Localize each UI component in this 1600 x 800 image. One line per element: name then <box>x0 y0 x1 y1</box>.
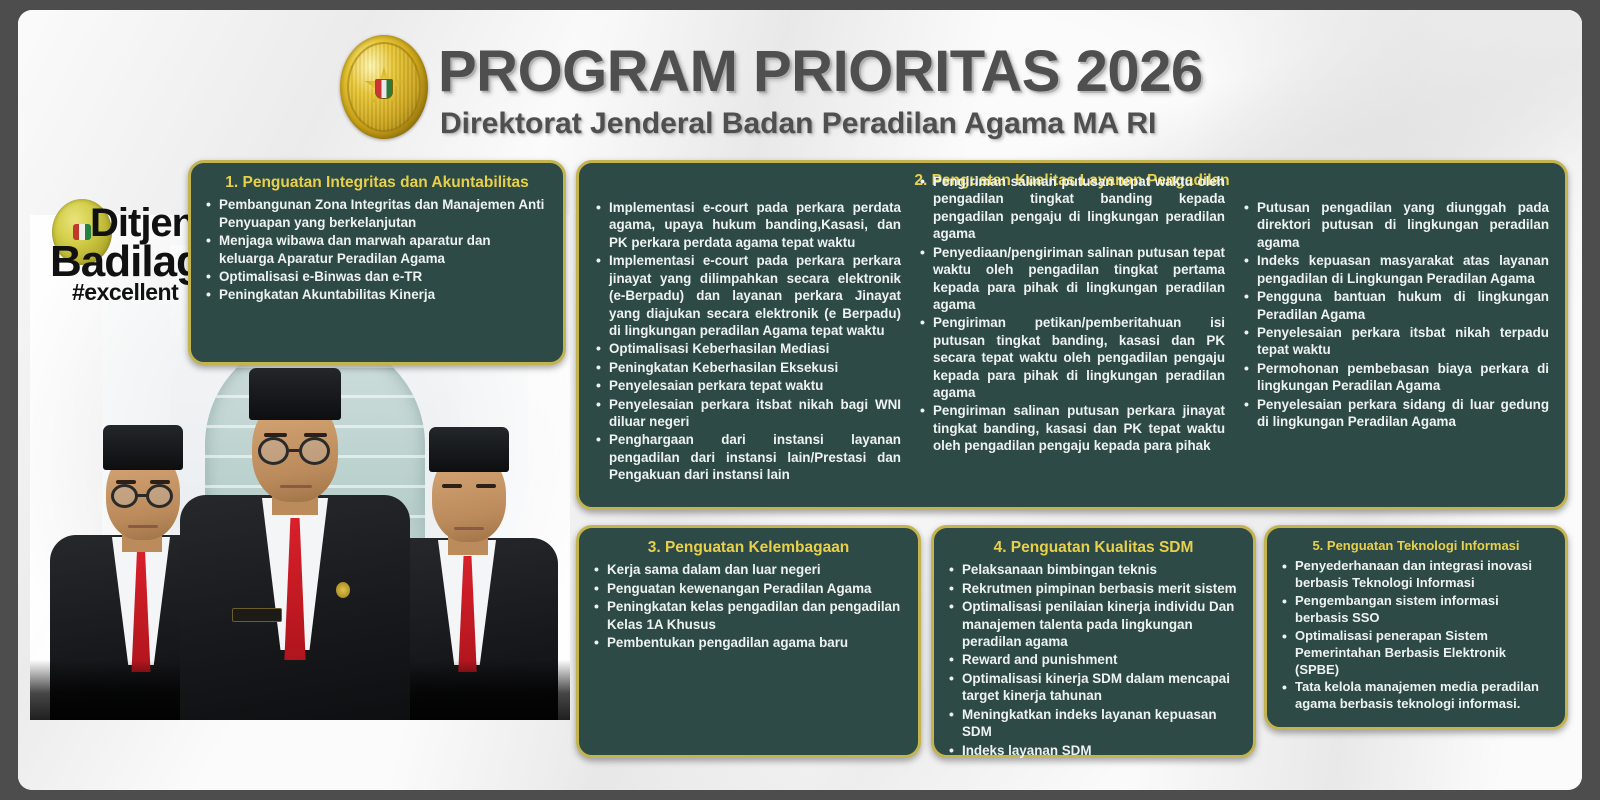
list-item: Indeks kepuasan masyarakat atas layanan … <box>1243 252 1549 287</box>
card-2-column-3: Putusan pengadilan yang diunggah pada di… <box>1243 173 1549 485</box>
card-1-list: Pembangunan Zona Integritas dan Manajeme… <box>205 196 549 304</box>
list-item: Penyediaan/pengiriman salinan putusan te… <box>919 244 1225 314</box>
card-5-title: 5. Penguatan Teknologi Informasi <box>1281 538 1551 554</box>
list-item: Kerja sama dalam dan luar negeri <box>593 561 904 578</box>
card-2-list-1: Implementasi e-court pada perkara perdat… <box>595 199 901 484</box>
list-item: Pelaksanaan bimbingan teknis <box>948 561 1239 578</box>
list-item: Meningkatkan indeks layanan kepuasan SDM <box>948 706 1239 741</box>
list-item: Optimalisasi kinerja SDM dalam mencapai … <box>948 670 1239 705</box>
list-item: Penyelesaian perkara itsbat nikah bagi W… <box>595 396 901 431</box>
eyeglasses-right-lens <box>146 484 173 508</box>
list-item: Optimalisasi penilaian kinerja individu … <box>948 598 1239 650</box>
badilag-line3: #excellent <box>72 279 178 306</box>
priority-card-1: 1. Penguatan Integritas dan Akuntabilita… <box>188 160 566 365</box>
supreme-court-emblem-icon <box>340 35 428 139</box>
eyeglasses-left-lens <box>258 437 289 465</box>
lapel-pin-icon <box>336 582 350 598</box>
card-5-list: Penyederhanaan dan integrasi inovasi ber… <box>1281 558 1551 713</box>
peci-cap <box>103 425 183 470</box>
card-4-list: Pelaksanaan bimbingan teknisRekrutmen pi… <box>948 561 1239 759</box>
list-item: Tata kelola manajemen media peradilan ag… <box>1281 679 1551 713</box>
list-item: Permohonan pembebasan biaya perkara di l… <box>1243 360 1549 395</box>
list-item: Penguatan kewenangan Peradilan Agama <box>593 580 904 597</box>
list-item: Menjaga wibawa dan marwah aparatur dan k… <box>205 232 549 267</box>
list-item: Pengguna bantuan hukum di lingkungan Per… <box>1243 288 1549 323</box>
list-item: Putusan pengadilan yang diunggah pada di… <box>1243 199 1549 251</box>
list-item: Implementasi e-court pada perkara perkar… <box>595 252 901 339</box>
emblem-shield-shape <box>375 79 393 99</box>
poster-canvas: Ditjen Badilag #excellent PROGRAM PRIORI… <box>18 10 1582 790</box>
list-item: Pengiriman petikan/pemberitahuan isi put… <box>919 314 1225 401</box>
list-item: Rekrutmen pimpinan berbasis merit sistem <box>948 580 1239 597</box>
poster-header: PROGRAM PRIORITAS 2026 Direktorat Jender… <box>18 10 1582 150</box>
card-2-column-1: Implementasi e-court pada perkara perdat… <box>595 173 901 485</box>
card-1-title: 1. Penguatan Integritas dan Akuntabilita… <box>205 173 549 192</box>
card-2-list-2: Pengiriman salinan putusan tepat waktu o… <box>919 173 1225 455</box>
list-item: Optimalisasi penerapan Sistem Pemerintah… <box>1281 628 1551 679</box>
page-title: PROGRAM PRIORITAS 2026 <box>438 38 1203 105</box>
eyebrow-right <box>476 484 496 488</box>
card-3-title: 3. Penguatan Kelembagaan <box>593 538 904 557</box>
mouth <box>280 485 312 488</box>
eyeglasses-left-lens <box>111 484 138 508</box>
list-item: Pembentukan pengadilan agama baru <box>593 634 904 651</box>
list-item: Penghargaan dari instansi layanan pengad… <box>595 431 901 483</box>
mouth <box>454 527 484 530</box>
eyebrow-left <box>442 484 462 488</box>
list-item: Penyelesaian perkara tepat waktu <box>595 377 901 394</box>
eyeglasses-bridge <box>289 449 299 452</box>
priority-card-4: 4. Penguatan Kualitas SDM Pelaksanaan bi… <box>931 525 1256 758</box>
card-2-column-2: Pengiriman salinan putusan tepat waktu o… <box>919 173 1225 485</box>
official-center <box>180 340 410 720</box>
card-2-list-3: Putusan pengadilan yang diunggah pada di… <box>1243 199 1549 430</box>
list-item: Implementasi e-court pada perkara perdat… <box>595 199 901 251</box>
priority-card-2: 2. Penguatan Kualitas Layanan Pengadilan… <box>576 160 1568 510</box>
card-4-title: 4. Penguatan Kualitas SDM <box>948 538 1239 557</box>
eyeglasses-right-lens <box>299 437 330 465</box>
list-item: Reward and punishment <box>948 651 1239 668</box>
list-item: Pembangunan Zona Integritas dan Manajeme… <box>205 196 549 231</box>
list-item: Penyelesaian perkara itsbat nikah terpad… <box>1243 324 1549 359</box>
peci-cap <box>429 427 509 472</box>
list-item: Peningkatan Akuntabilitas Kinerja <box>205 286 549 303</box>
list-item: Penyelesaian perkara sidang di luar gedu… <box>1243 396 1549 431</box>
page-subtitle: Direktorat Jenderal Badan Peradilan Agam… <box>440 107 1156 141</box>
list-item: Peningkatan Keberhasilan Eksekusi <box>595 359 901 376</box>
card-2-columns: Implementasi e-court pada perkara perdat… <box>595 173 1549 485</box>
priority-card-3: 3. Penguatan Kelembagaan Kerja sama dala… <box>576 525 921 758</box>
ditjen-badilag-logo: Ditjen Badilag #excellent <box>46 195 196 315</box>
list-item: Pengiriman salinan putusan tepat waktu o… <box>919 173 1225 243</box>
priority-card-5: 5. Penguatan Teknologi Informasi Penyede… <box>1264 525 1568 730</box>
name-badge <box>232 608 282 622</box>
list-item: Peningkatan kelas pengadilan dan pengadi… <box>593 598 904 633</box>
list-item: Pengembangan sistem informasi berbasis S… <box>1281 593 1551 627</box>
list-item: Optimalisasi Keberhasilan Mediasi <box>595 340 901 357</box>
list-item: Optimalisasi e-Binwas dan e-TR <box>205 268 549 285</box>
list-item: Indeks layanan SDM <box>948 742 1239 759</box>
mouth <box>128 525 158 528</box>
peci-cap <box>249 368 341 420</box>
list-item: Penyederhanaan dan integrasi inovasi ber… <box>1281 558 1551 592</box>
eyeglasses-bridge <box>137 494 147 497</box>
card-3-list: Kerja sama dalam dan luar negeriPenguata… <box>593 561 904 651</box>
list-item: Pengiriman salinan putusan perkara jinay… <box>919 402 1225 454</box>
